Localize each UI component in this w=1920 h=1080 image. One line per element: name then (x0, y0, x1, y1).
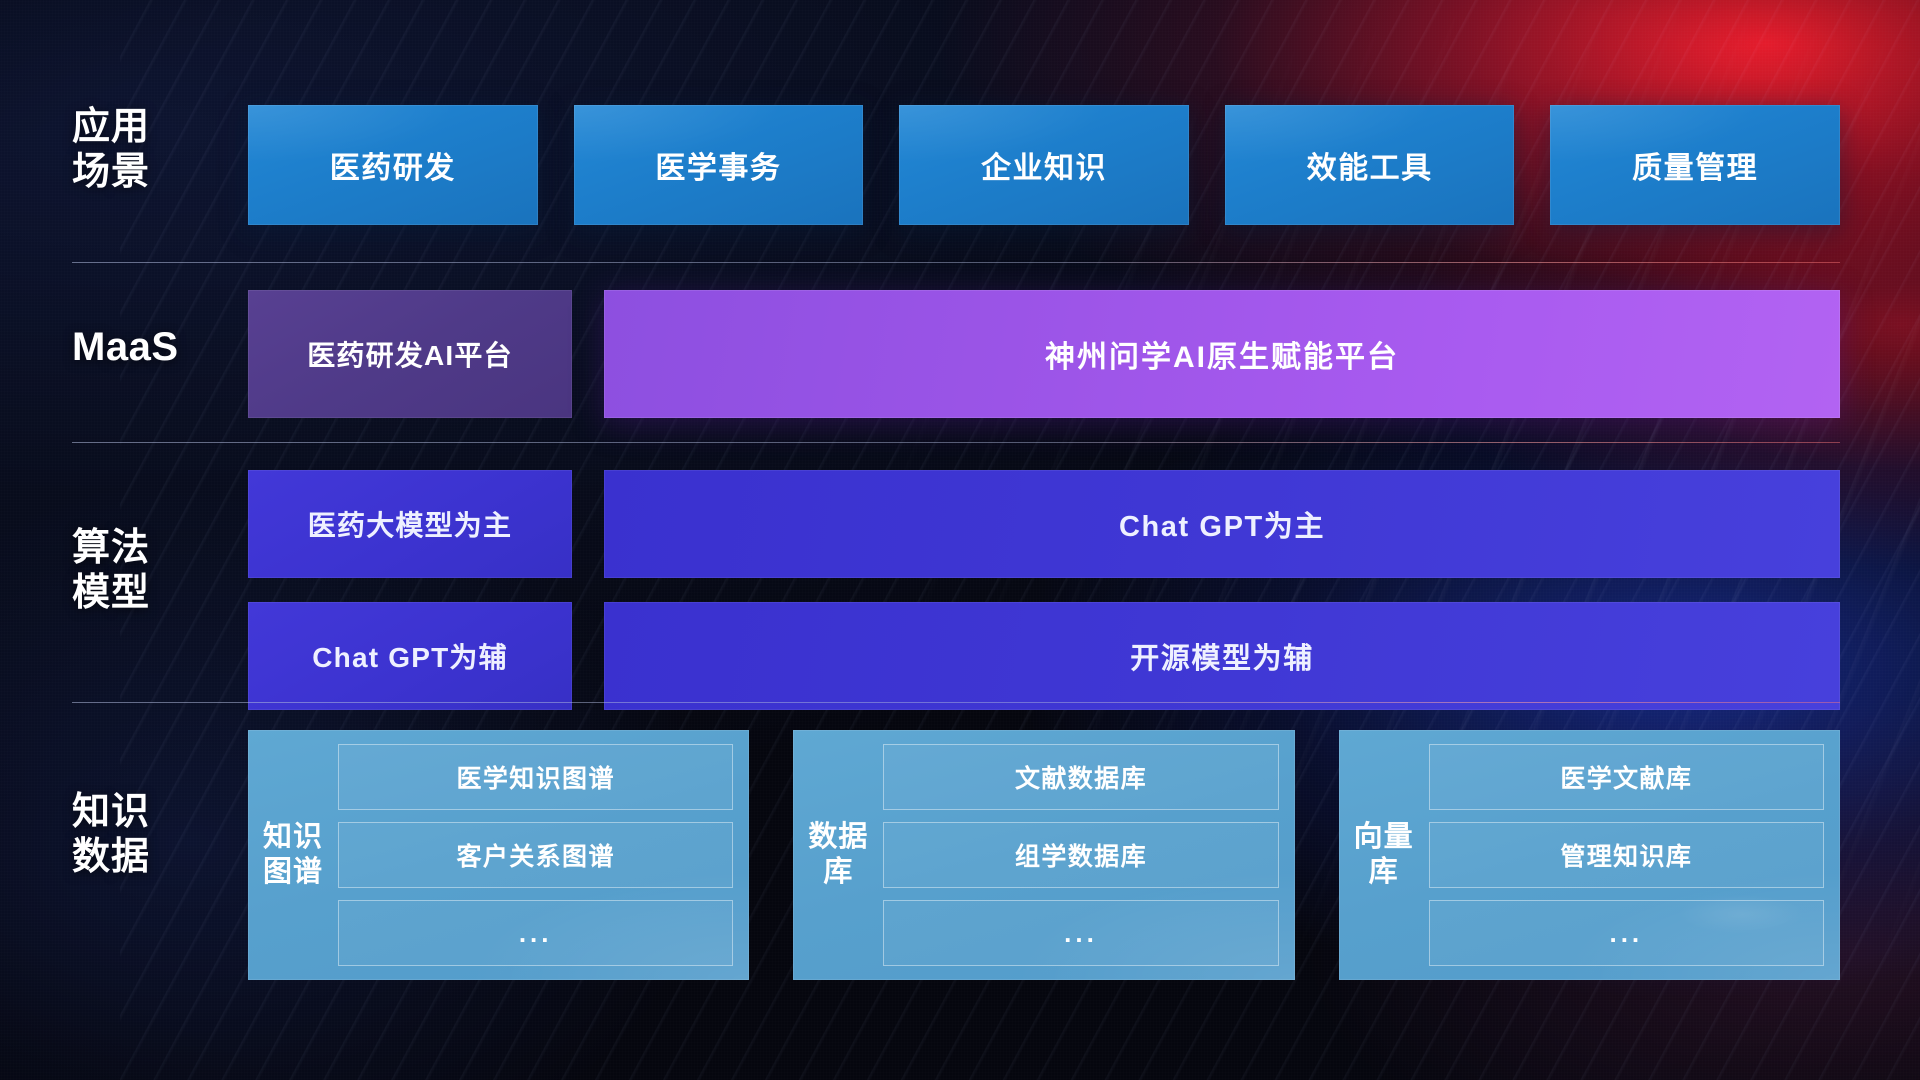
knowledge-group-knowledge-graph: 知识图谱 医学知识图谱 客户关系图谱 ... (248, 730, 749, 980)
tier-label-maas: MaaS (72, 324, 232, 371)
maas-card-medicine-ai-platform[interactable]: 医药研发AI平台 (248, 290, 572, 418)
knowledge-item-medical-knowledge-graph[interactable]: 医学知识图谱 (338, 744, 733, 810)
knowledge-group-database: 数据库 文献数据库 组学数据库 ... (793, 730, 1294, 980)
algorithm-card-chatgpt-secondary[interactable]: Chat GPT为辅 (248, 602, 572, 710)
knowledge-group-vector-store: 向量库 医学文献库 管理知识库 ... (1339, 730, 1840, 980)
application-card-medicine-rd[interactable]: 医药研发 (248, 105, 538, 225)
algorithm-row-primary: 医药大模型为主 Chat GPT为主 (248, 470, 1840, 578)
tier-label-algorithm-models: 算法 模型 (72, 526, 232, 616)
slide-canvas: 应用 场景 医药研发 医学事务 企业知识 效能工具 质量管理 MaaS 医药研发… (0, 0, 1920, 1080)
tier-applications: 应用 场景 医药研发 医学事务 企业知识 效能工具 质量管理 (0, 105, 1920, 225)
knowledge-group-title-knowledge-graph: 知识图谱 (262, 744, 324, 966)
knowledge-group-title-database: 数据库 (807, 744, 869, 966)
knowledge-item-more[interactable]: ... (1429, 900, 1824, 966)
architecture-diagram: 应用 场景 医药研发 医学事务 企业知识 效能工具 质量管理 MaaS 医药研发… (0, 0, 1920, 1080)
maas-card-shenzhou-wenxue-platform[interactable]: 神州问学AI原生赋能平台 (604, 290, 1840, 418)
divider-maas-algorithm (72, 442, 1840, 443)
algorithm-row-secondary: Chat GPT为辅 开源模型为辅 (248, 602, 1840, 710)
knowledge-item-omics-database[interactable]: 组学数据库 (883, 822, 1278, 888)
tier-label-line: 场景 (72, 150, 232, 195)
knowledge-item-list: 医学文献库 管理知识库 ... (1429, 744, 1824, 966)
tier-label-line: 知识 (72, 790, 232, 835)
tier-knowledge-data: 知识 数据 知识图谱 医学知识图谱 客户关系图谱 ... 数据库 文献数据库 (0, 730, 1920, 980)
tier-label-knowledge-data: 知识 数据 (72, 790, 232, 880)
algorithm-card-chatgpt-primary[interactable]: Chat GPT为主 (604, 470, 1840, 578)
tier-algorithm-models: 算法 模型 医药大模型为主 Chat GPT为主 Chat GPT为辅 开源模型… (0, 470, 1920, 710)
application-card-quality-management[interactable]: 质量管理 (1550, 105, 1840, 225)
tier-maas: MaaS 医药研发AI平台 神州问学AI原生赋能平台 (0, 290, 1920, 418)
knowledge-item-management-knowledge-store[interactable]: 管理知识库 (1429, 822, 1824, 888)
knowledge-group-track: 知识图谱 医学知识图谱 客户关系图谱 ... 数据库 文献数据库 组学数据库 .… (248, 730, 1840, 980)
maas-card-track: 医药研发AI平台 神州问学AI原生赋能平台 (248, 290, 1840, 418)
tier-label-applications: 应用 场景 (72, 105, 232, 195)
tier-label-line: 模型 (72, 571, 232, 616)
divider-applications-maas (72, 262, 1840, 263)
knowledge-item-customer-relationship-graph[interactable]: 客户关系图谱 (338, 822, 733, 888)
application-card-medical-affairs[interactable]: 医学事务 (574, 105, 864, 225)
knowledge-item-literature-database[interactable]: 文献数据库 (883, 744, 1278, 810)
algorithm-card-medicine-llm-primary[interactable]: 医药大模型为主 (248, 470, 572, 578)
knowledge-item-more[interactable]: ... (338, 900, 733, 966)
algorithm-card-grid: 医药大模型为主 Chat GPT为主 Chat GPT为辅 开源模型为辅 (248, 470, 1840, 710)
knowledge-item-more[interactable]: ... (883, 900, 1278, 966)
knowledge-item-medical-literature-store[interactable]: 医学文献库 (1429, 744, 1824, 810)
tier-label-line: 算法 (72, 526, 232, 571)
knowledge-item-list: 医学知识图谱 客户关系图谱 ... (338, 744, 733, 966)
divider-algorithm-knowledge (72, 702, 1840, 703)
application-card-track: 医药研发 医学事务 企业知识 效能工具 质量管理 (248, 105, 1840, 225)
knowledge-item-list: 文献数据库 组学数据库 ... (883, 744, 1278, 966)
knowledge-group-title-vector-store: 向量库 (1353, 744, 1415, 966)
algorithm-card-opensource-secondary[interactable]: 开源模型为辅 (604, 602, 1840, 710)
tier-label-line: MaaS (72, 324, 232, 371)
application-card-enterprise-knowledge[interactable]: 企业知识 (899, 105, 1189, 225)
application-card-efficiency-tools[interactable]: 效能工具 (1225, 105, 1515, 225)
tier-label-line: 数据 (72, 835, 232, 880)
tier-label-line: 应用 (72, 105, 232, 150)
